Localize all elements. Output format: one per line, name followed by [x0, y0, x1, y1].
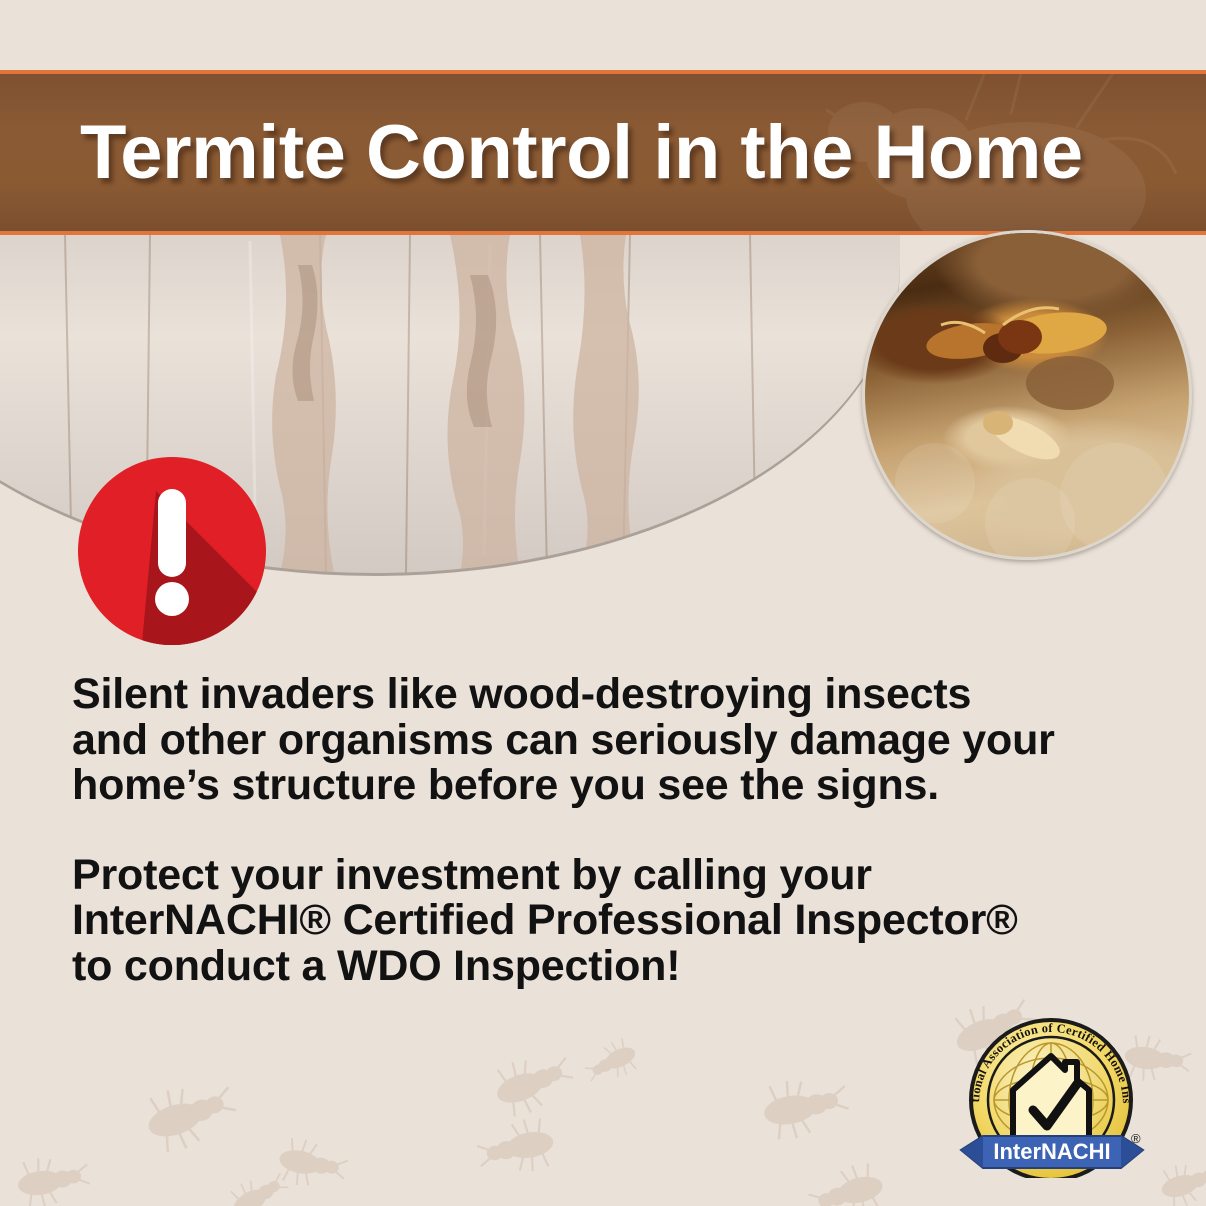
exclamation-alert-icon [78, 457, 266, 645]
cta-line-1: Protect your investment by calling your [72, 851, 872, 899]
warning-line-2: and other organisms can seriously damage… [72, 716, 1055, 764]
warning-line-1: Silent invaders like wood-destroying ins… [72, 670, 971, 718]
page-title: Termite Control in the Home [80, 115, 1083, 191]
body-copy: Silent invaders like wood-destroying ins… [72, 672, 1132, 989]
alert-badge [78, 457, 266, 645]
logo-registered-mark: ® [1131, 1131, 1141, 1146]
termite-colony-photo [862, 230, 1192, 560]
cta-line-2: InterNACHI® Certified Professional Inspe… [72, 896, 1018, 944]
internachi-logo-graphic[interactable]: International Association of Certified H… [955, 1000, 1145, 1178]
logo-ribbon: InterNACHI [961, 1136, 1143, 1168]
internachi-logo[interactable]: International Association of Certified H… [955, 1000, 1145, 1178]
warning-line-3: home’s structure before you see the sign… [72, 761, 939, 809]
header-band: Termite Control in the Home [0, 70, 1206, 235]
warning-paragraph: Silent invaders like wood-destroying ins… [72, 672, 1132, 809]
call-to-action-paragraph: Protect your investment by calling your … [72, 853, 1132, 990]
cta-line-3: to conduct a WDO Inspection! [72, 942, 680, 990]
termite-colony-detail-overlay [865, 233, 1192, 560]
logo-ribbon-text: InterNACHI [993, 1139, 1110, 1164]
poster-canvas: Termite Control in the Home [0, 0, 1206, 1206]
